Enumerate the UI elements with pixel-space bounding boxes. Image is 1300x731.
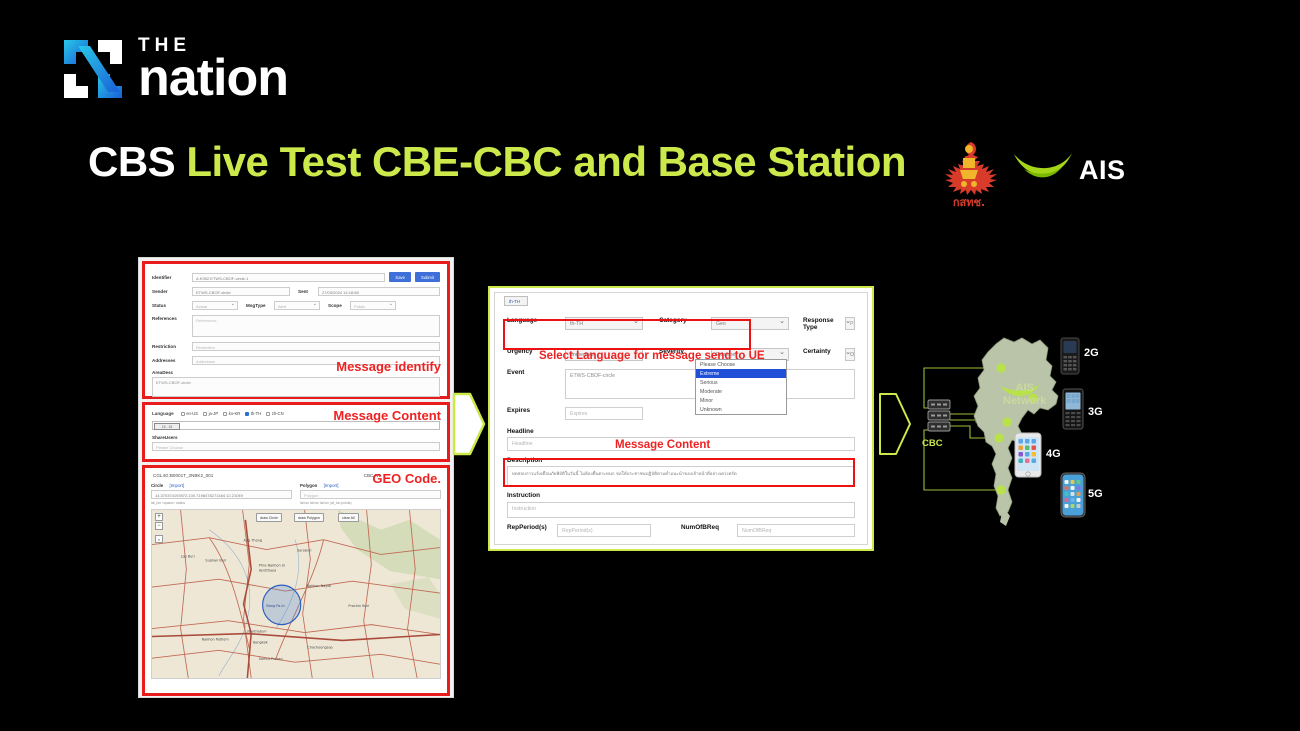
shareusers-label: ShareUsers xyxy=(152,435,192,440)
expires-input[interactable]: Expires xyxy=(565,407,643,420)
lang-label-ja-jp: ja-JP xyxy=(209,411,219,416)
cell-id: CGL4G:B0001T_2NBK2_001 xyxy=(153,473,213,478)
svg-text:Phra Nakhon Si: Phra Nakhon Si xyxy=(259,563,285,567)
scope-label: Scope xyxy=(328,303,350,308)
instruction-textarea[interactable]: Instruction xyxy=(507,502,855,518)
title-prefix: CBS xyxy=(88,138,175,185)
net-node-north xyxy=(996,363,1005,372)
svg-text:Lop Buri: Lop Buri xyxy=(181,554,195,558)
brand-wordmark: THE nation xyxy=(138,36,288,102)
geo-columns: Circle [Import] 14.370374193972,100.7198… xyxy=(151,483,441,505)
cap-geo-form: CGL4G:B0001T_2NBK2_001 CBC-NT GEO Code. … xyxy=(142,465,450,696)
response-type-label: Response Type xyxy=(803,317,845,332)
lang-label-en-us: en-US xyxy=(186,411,198,416)
headline-label: Headline xyxy=(507,428,855,435)
annotation-message-content-2: Message Content xyxy=(615,439,710,451)
lang-radio-ko-kr[interactable]: ko-KR xyxy=(223,411,240,416)
language-label: Language xyxy=(152,411,174,416)
repperiod-input[interactable]: RepPeriod(s) xyxy=(557,524,651,537)
svg-text:Bangkok: Bangkok xyxy=(253,640,268,644)
references-row: References References xyxy=(152,315,440,337)
circle-hint: lat_lon <space> radius xyxy=(151,501,292,505)
page-title: CBS Live Test CBE-CBC and Base Station xyxy=(88,138,906,186)
lang-label-th-th: th-TH xyxy=(251,411,261,416)
circle-head: Circle [Import] xyxy=(151,483,292,488)
server-rack-icon xyxy=(928,400,950,431)
shareusers-row: ShareUsers Please Choose xyxy=(152,435,440,451)
identifier-row: Identifier A.K952.ETWS-CBOF-circle.1 Sav… xyxy=(152,272,440,282)
svg-text:กสทช.: กสทช. xyxy=(953,196,985,208)
cap-identify-form: Identifier A.K952.ETWS-CBOF-circle.1 Sav… xyxy=(142,261,450,399)
category-label: Category xyxy=(659,317,711,324)
instruction-label: Instruction xyxy=(507,492,855,499)
sender-label: Sender xyxy=(152,289,192,294)
lang-label-zh-cn: zh-CN xyxy=(272,411,284,416)
repperiod-label: RepPeriod(s) xyxy=(507,524,557,531)
polygon-column: Polygon [Import] Polygon lat lon lat lon… xyxy=(300,483,441,505)
candybar-phone-icon xyxy=(1062,388,1084,435)
instruction-row: Instruction Instruction xyxy=(507,492,855,517)
map-search-icon[interactable]: ⌕ xyxy=(155,535,163,543)
severity-option-minor[interactable]: Minor xyxy=(696,396,786,405)
brand-logo: THE nation xyxy=(62,36,288,102)
event-label: Event xyxy=(507,369,565,376)
lang-label-ko-kr: ko-KR xyxy=(229,411,241,416)
device-label-3g: 3G xyxy=(1088,406,1103,418)
ais-network-line2: Network xyxy=(1003,395,1046,408)
net-node-bangkok xyxy=(994,433,1003,442)
expires-row: Expires Expires xyxy=(507,407,855,420)
certainty-select[interactable]: Observed xyxy=(845,348,855,361)
map-zoom-out-button[interactable]: − xyxy=(155,522,163,530)
language-category-response-row: Language th-TH Category Geo Response Typ… xyxy=(507,317,855,332)
svg-text:Nonthaburi: Nonthaburi xyxy=(247,629,266,633)
annotation-geo-code: GEO Code. xyxy=(372,471,441,486)
language-label: Language xyxy=(507,317,565,324)
svg-text:Nakhon Nayok: Nakhon Nayok xyxy=(306,584,331,588)
clear-all-button[interactable]: clear All xyxy=(338,513,359,522)
annotation-message-content: Message Content xyxy=(333,408,441,423)
submit-button[interactable]: Submit xyxy=(415,272,440,282)
severity-option-unknown[interactable]: Unknown xyxy=(696,405,786,414)
lang-radio-th-th[interactable]: th-TH xyxy=(245,411,261,416)
circle-column: Circle [Import] 14.370374193972,100.7198… xyxy=(151,483,292,505)
certainty-label: Certainty xyxy=(803,348,845,355)
net-node-central xyxy=(1002,417,1011,426)
nation-n-logo-icon xyxy=(62,38,124,100)
repperiod-numofbreq-row: RepPeriod(s) RepPeriod(s) NumOfBReq NumO… xyxy=(507,524,855,537)
ais-network-label: AIS Network xyxy=(1003,382,1046,408)
severity-option-serious[interactable]: Serious xyxy=(696,378,786,387)
references-label: References xyxy=(152,316,192,321)
brand-name: nation xyxy=(138,56,288,102)
restriction-label: Restriction xyxy=(152,344,192,349)
msgtype-select[interactable]: Alert xyxy=(274,301,320,310)
cap-content-form: Language en-US ja-JP ko-KR th-TH zh-CN 1… xyxy=(142,402,450,462)
annotation-message-identify: Message identify xyxy=(336,359,441,374)
language-select[interactable]: th-TH xyxy=(565,317,643,330)
map-zoom-in-button[interactable]: + xyxy=(155,513,163,521)
areadesc-label: AreaDesc xyxy=(152,370,192,375)
circle-import-link[interactable]: [Import] xyxy=(169,483,184,488)
net-node-south xyxy=(996,485,1005,494)
device-label-2g: 2G xyxy=(1084,347,1099,359)
svg-text:Nakhon Pathom: Nakhon Pathom xyxy=(202,637,230,641)
feature-phone-icon xyxy=(1060,337,1080,380)
severity-option-extreme[interactable]: Extreme xyxy=(696,369,786,378)
chevron-right-arrow-1 xyxy=(452,392,486,456)
polygon-input[interactable]: Polygon xyxy=(300,490,441,499)
svg-text:Samut Prakan: Samut Prakan xyxy=(259,657,283,661)
description-textarea[interactable]: ทดสอบการแจ้งเตือนภัยพิบัติในวันนี้ ไม่ต้… xyxy=(507,466,855,486)
addresses-label: Addresses xyxy=(152,358,192,363)
ais-swoosh-icon xyxy=(1012,150,1074,191)
restriction-input[interactable]: Restriction xyxy=(192,342,440,351)
msgtype-label: MsgType xyxy=(246,303,274,308)
references-textarea[interactable]: References xyxy=(192,315,440,337)
nbtc-garuda-logo-icon: กสทช. xyxy=(938,136,1000,208)
identifier-input[interactable]: A.K952.ETWS-CBOF-circle.1 xyxy=(192,273,385,282)
sender-input[interactable]: ETWS-CBOF-circle xyxy=(192,287,290,296)
slider-knob[interactable]: 15 - 15 xyxy=(154,423,180,430)
svg-text:Ang Thong: Ang Thong xyxy=(244,539,262,543)
severity-option-moderate[interactable]: Moderate xyxy=(696,387,786,396)
sent-label: Sent xyxy=(298,289,318,294)
circle-label: Circle xyxy=(151,483,163,488)
geo-map[interactable]: Bangkok Nonthaburi Nakhon Pathom Phra Na… xyxy=(151,509,441,679)
scope-select[interactable]: Public xyxy=(350,301,396,310)
event-row: Event ETWS-CBOF-circle xyxy=(507,369,855,399)
expires-label: Expires xyxy=(507,407,565,414)
sent-input[interactable]: 27/03/2024 14:18:88 xyxy=(318,287,440,296)
title-rest: Live Test CBE-CBC and Base Station xyxy=(186,138,906,185)
polygon-hint: lat lon lat lon lat lon (at_lon points) xyxy=(300,501,441,505)
language-tab-th-th[interactable]: th-TH xyxy=(504,296,528,306)
identifier-label: Identifier xyxy=(152,275,192,280)
polygon-import-link[interactable]: [Import] xyxy=(324,483,339,488)
screenshot-panel-left: Identifier A.K952.ETWS-CBOF-circle.1 Sav… xyxy=(138,257,454,698)
lang-radio-ja-jp[interactable]: ja-JP xyxy=(203,411,218,416)
category-select[interactable]: Geo xyxy=(711,317,789,330)
cap-language-form: th-TH Language th-TH Category Geo Respon… xyxy=(494,292,868,545)
ais-network-line1: AIS xyxy=(1003,382,1046,395)
svg-text:Suphan Buri: Suphan Buri xyxy=(205,558,226,562)
numofbreq-label: NumOfBReq xyxy=(681,524,737,531)
cbc-label: CBC xyxy=(922,438,943,449)
description-row: Description ทดสอบการแจ้งเตือนภัยพิบัติใน… xyxy=(507,457,855,486)
device-label-5g: 5G xyxy=(1088,488,1103,500)
circle-input[interactable]: 14.370374193972,100.7198478271484 12.210… xyxy=(151,490,292,499)
svg-text:Chachoengsao: Chachoengsao xyxy=(307,645,332,649)
save-button[interactable]: Save xyxy=(389,272,411,282)
response-type-select[interactable]: Please Choose xyxy=(845,317,855,330)
ais-logo: AIS xyxy=(1012,150,1126,191)
svg-text:Saraburi: Saraburi xyxy=(297,548,312,552)
draw-circle-button[interactable]: draw Circle xyxy=(256,513,282,522)
tab-label: th-TH xyxy=(509,299,520,304)
device-label-4g: 4G xyxy=(1046,448,1061,460)
sender-sent-row: Sender ETWS-CBOF-circle Sent 27/03/2024 … xyxy=(152,287,440,296)
areadesc-row: AreaDesc ETWS-CBOF-circle xyxy=(152,370,440,397)
severity-dropdown-list[interactable]: Please Choose Extreme Serious Moderate M… xyxy=(695,359,787,415)
severity-option-please-choose[interactable]: Please Choose xyxy=(696,360,786,369)
shareusers-select[interactable]: Please Choose xyxy=(152,442,440,451)
restriction-row: Restriction Restriction xyxy=(152,342,440,351)
svg-text:Bang Pa-In: Bang Pa-In xyxy=(266,604,284,608)
description-label: Description xyxy=(507,457,855,464)
numofbreq-input[interactable]: NumOfBReq xyxy=(737,524,855,537)
draw-polygon-button[interactable]: draw Polygon xyxy=(294,513,324,522)
ais-wordmark: AIS xyxy=(1079,155,1126,186)
svg-text:Prachin Buri: Prachin Buri xyxy=(348,604,369,608)
status-select[interactable]: Actual xyxy=(192,301,238,310)
lang-radio-zh-cn[interactable]: zh-CN xyxy=(266,411,283,416)
screenshot-panel-right: th-TH Language th-TH Category Geo Respon… xyxy=(488,286,874,551)
smartphone-icon xyxy=(1014,432,1042,483)
svg-text:Ayutthaya: Ayutthaya xyxy=(259,568,276,572)
map-canvas: Bangkok Nonthaburi Nakhon Pathom Phra Na… xyxy=(152,510,440,678)
status-label: Status xyxy=(152,303,192,308)
areadesc-textarea[interactable]: ETWS-CBOF-circle xyxy=(152,377,440,397)
polygon-label: Polygon xyxy=(300,483,317,488)
modern-smartphone-icon xyxy=(1060,472,1086,523)
lang-radio-en-us[interactable]: en-US xyxy=(181,411,198,416)
status-msgtype-scope-row: Status Actual MsgType Alert Scope Public xyxy=(152,301,440,310)
